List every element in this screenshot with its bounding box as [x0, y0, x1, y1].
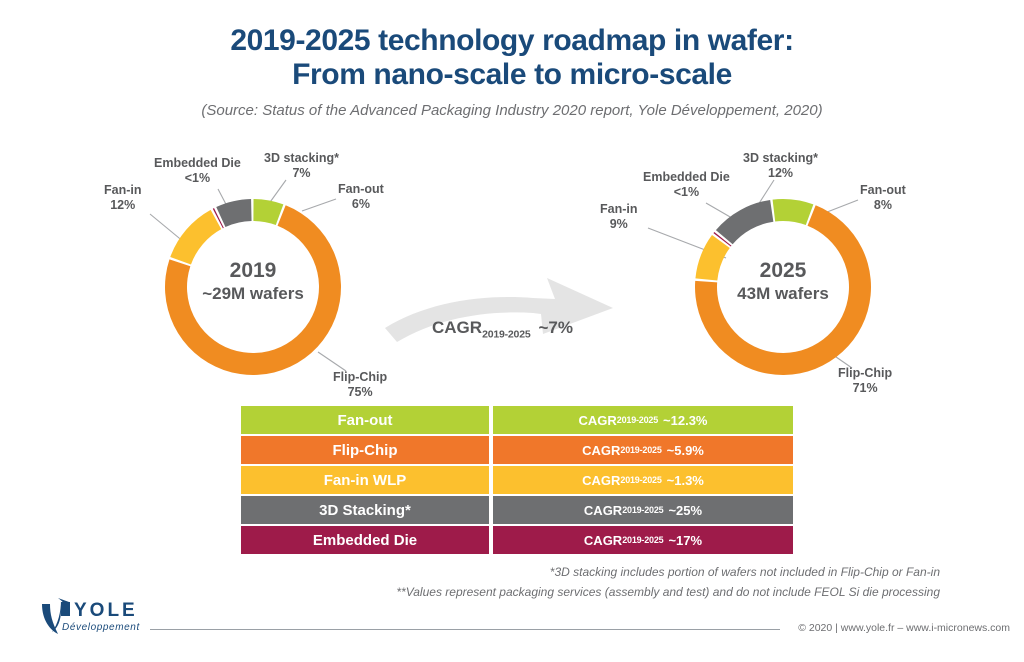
callout-flip-chip-2025: Flip-Chip 71% — [838, 366, 892, 395]
table-row: Fan-out CAGR2019-2025~12.3% — [241, 406, 793, 434]
donut-segment-fan-in — [695, 235, 729, 281]
callout-flip-chip-2019: Flip-Chip 75% — [333, 370, 387, 399]
donut-segment-3d-stacking — [716, 200, 773, 244]
callout-fan-in-2019-label: Fan-in — [104, 183, 142, 197]
donut-segment-fan-out — [253, 199, 283, 225]
callout-flip-chip-2025-pct: 71% — [838, 381, 892, 396]
table-row: 3D Stacking* CAGR2019-2025~25% — [241, 496, 793, 524]
cagr-prefix: CAGR — [582, 473, 620, 488]
footer-divider — [150, 629, 780, 630]
callout-fan-out-2019-label: Fan-out — [338, 182, 384, 196]
callout-3d-stacking-2019: 3D stacking* 7% — [264, 151, 339, 180]
callout-3d-stacking-2025-pct: 12% — [743, 166, 818, 181]
table-row: Fan-in WLP CAGR2019-2025~1.3% — [241, 466, 793, 494]
callout-fan-in-2025: Fan-in 9% — [600, 202, 638, 231]
cagr-prefix: CAGR — [584, 533, 622, 548]
callout-embedded-die-2025-label: Embedded Die — [643, 170, 730, 184]
cagr-value: ~17% — [668, 533, 702, 548]
callout-flip-chip-2025-label: Flip-Chip — [838, 366, 892, 380]
table-row-flip-chip-name: Flip-Chip — [241, 436, 489, 464]
cagr-prefix: CAGR — [582, 443, 620, 458]
cagr-arrow-prefix: CAGR — [432, 318, 482, 337]
cagr-subscript: 2019-2025 — [620, 475, 661, 485]
table-row-fan-in-wlp-cagr: CAGR2019-2025~1.3% — [493, 466, 793, 494]
title-block: 2019-2025 technology roadmap in wafer: F… — [0, 24, 1024, 119]
cagr-subscript: 2019-2025 — [617, 415, 658, 425]
cagr-prefix: CAGR — [584, 503, 622, 518]
cagr-value: ~1.3% — [667, 473, 704, 488]
cagr-value: ~5.9% — [667, 443, 704, 458]
table-row: Flip-Chip CAGR2019-2025~5.9% — [241, 436, 793, 464]
yole-developpement-logo: YOLE Développement — [36, 592, 176, 640]
logo-wordmark: YOLE — [74, 600, 138, 621]
table-row-embedded-die-name: Embedded Die — [241, 526, 489, 554]
cagr-table: Fan-out CAGR2019-2025~12.3% Flip-Chip CA… — [241, 406, 793, 554]
cagr-arrow-value: ~7% — [538, 318, 573, 337]
donut-chart-2019: 2019 ~29M wafers — [138, 172, 368, 402]
callout-3d-stacking-2019-label: 3D stacking* — [264, 151, 339, 165]
cagr-value: ~12.3% — [663, 413, 707, 428]
callout-fan-out-2025-label: Fan-out — [860, 183, 906, 197]
callout-fan-in-2025-pct: 9% — [600, 217, 638, 232]
table-row-3d-stacking-cagr: CAGR2019-2025~25% — [493, 496, 793, 524]
table-row-fan-out-cagr: CAGR2019-2025~12.3% — [493, 406, 793, 434]
callout-flip-chip-2019-label: Flip-Chip — [333, 370, 387, 384]
cagr-arrow-label: CAGR2019-2025~7% — [432, 318, 573, 340]
table-row-fan-out-name: Fan-out — [241, 406, 489, 434]
callout-embedded-die-2025-pct: <1% — [643, 185, 730, 200]
callout-fan-in-2019-pct: 12% — [104, 198, 142, 213]
donut-segment-3d-stacking — [216, 199, 251, 227]
table-row-fan-in-wlp-name: Fan-in WLP — [241, 466, 489, 494]
page-title-line-2: From nano-scale to micro-scale — [0, 58, 1024, 92]
callout-3d-stacking-2025-label: 3D stacking* — [743, 151, 818, 165]
callout-fan-out-2025-pct: 8% — [860, 198, 906, 213]
callout-3d-stacking-2019-pct: 7% — [264, 166, 339, 181]
source-citation: (Source: Status of the Advanced Packagin… — [0, 102, 1024, 119]
callout-fan-out-2019-pct: 6% — [338, 197, 384, 212]
table-row: Embedded Die CAGR2019-2025~17% — [241, 526, 793, 554]
cagr-subscript: 2019-2025 — [622, 505, 663, 515]
cagr-arrow-subscript: 2019-2025 — [482, 328, 530, 340]
callout-fan-in-2019: Fan-in 12% — [104, 183, 142, 212]
callout-flip-chip-2019-pct: 75% — [333, 385, 387, 400]
cagr-subscript: 2019-2025 — [620, 445, 661, 455]
page-title-line-1: 2019-2025 technology roadmap in wafer: — [0, 24, 1024, 58]
logo-tagline: Développement — [62, 622, 140, 633]
cagr-prefix: CAGR — [579, 413, 617, 428]
callout-embedded-die-2019: Embedded Die <1% — [154, 156, 241, 185]
callout-fan-out-2025: Fan-out 8% — [860, 183, 906, 212]
donut-segment-fan-out — [773, 199, 814, 225]
table-row-3d-stacking-name: 3D Stacking* — [241, 496, 489, 524]
callout-3d-stacking-2025: 3D stacking* 12% — [743, 151, 818, 180]
cagr-value: ~25% — [668, 503, 702, 518]
donut-segment-fan-in — [170, 210, 221, 265]
cagr-subscript: 2019-2025 — [622, 535, 663, 545]
footnote-1: *3D stacking includes portion of wafers … — [0, 562, 940, 582]
table-row-embedded-die-cagr: CAGR2019-2025~17% — [493, 526, 793, 554]
callout-embedded-die-2019-pct: <1% — [154, 171, 241, 186]
callout-fan-in-2025-label: Fan-in — [600, 202, 638, 216]
callout-embedded-die-2025: Embedded Die <1% — [643, 170, 730, 199]
table-row-flip-chip-cagr: CAGR2019-2025~5.9% — [493, 436, 793, 464]
callout-embedded-die-2019-label: Embedded Die — [154, 156, 241, 170]
callout-fan-out-2019: Fan-out 6% — [338, 182, 384, 211]
copyright-notice: © 2020 | www.yole.fr – www.i-micronews.c… — [798, 622, 1010, 634]
